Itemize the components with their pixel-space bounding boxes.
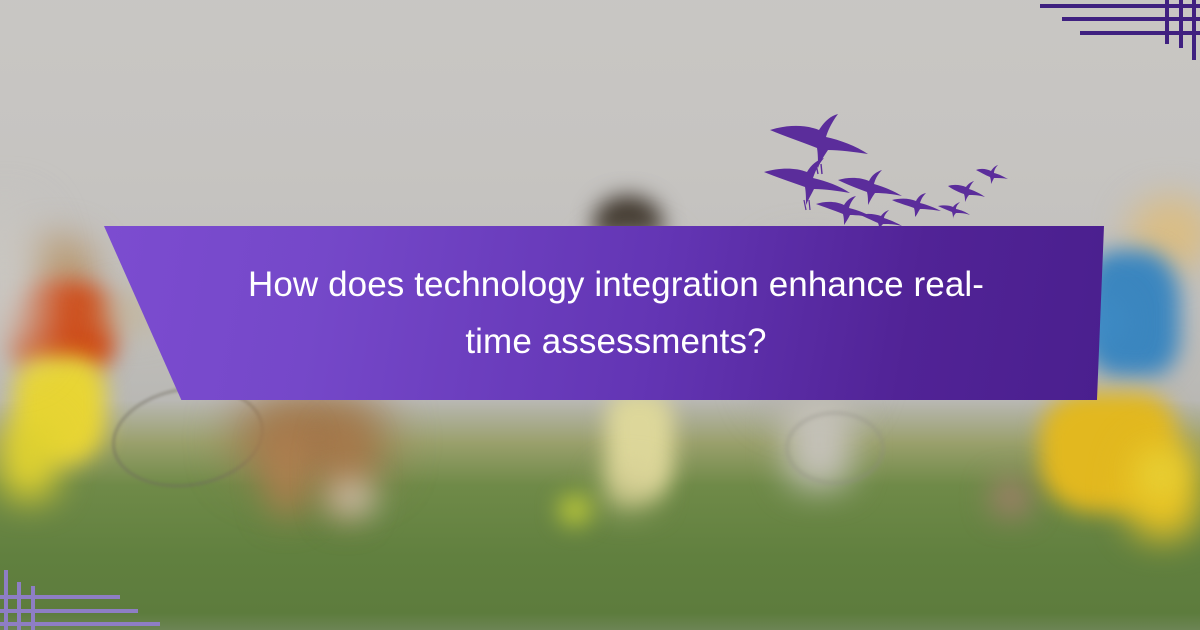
decor-line-horizontal [0,622,160,626]
decor-line-horizontal [1040,4,1200,8]
banner-image-canvas: How does technology integration enhance … [0,0,1200,630]
hoop-grey [786,412,884,484]
decor-line-vertical [1192,0,1196,60]
page-title: How does technology integration enhance … [236,257,996,370]
figure-tan-shoe [330,486,374,510]
child-orange-shirt-leg [0,420,58,500]
decor-line-vertical [17,582,21,630]
decor-line-vertical [4,570,8,630]
figure-tan-leg-a [270,430,304,516]
decor-line-vertical [1165,0,1169,44]
headline-banner: How does technology integration enhance … [100,226,1104,400]
decor-line-vertical [1179,0,1183,48]
corner-decor-top-right [1040,0,1200,60]
decor-line-vertical [31,586,35,630]
child-center-shoe [604,474,652,506]
figure-tan-lowerleft [236,392,386,484]
child-blue-shirt-knee [1126,440,1200,538]
object-yellow-small [1146,460,1176,488]
corner-decor-bottom-left [0,570,160,630]
ball-green [558,494,592,526]
object-pink-small [996,484,1026,512]
bird-flock-graphic [762,112,1017,227]
